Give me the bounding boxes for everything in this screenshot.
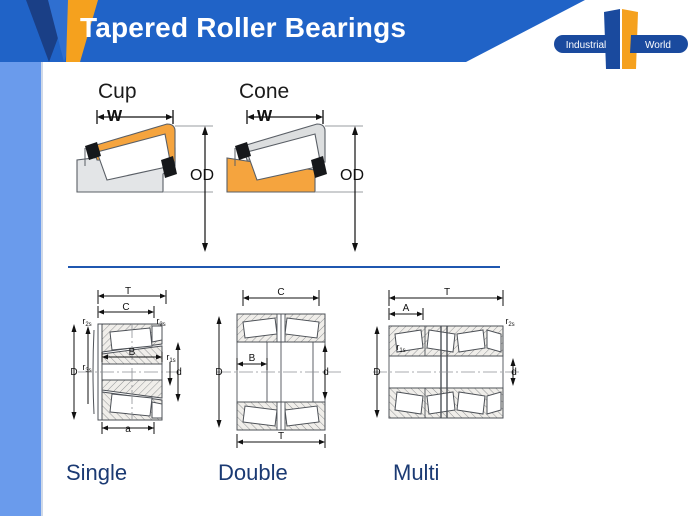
double-d-label: d <box>323 367 329 378</box>
single-figure: T C B D d a r2s r3s r2s r1s <box>58 284 208 460</box>
multi-figure-title: Multi <box>393 460 439 486</box>
single-r2s-label: r2s <box>82 316 91 328</box>
multi-A-label: A <box>403 303 410 314</box>
multi-figure: T A D d r2s r1s <box>363 284 533 460</box>
double-D-label: D <box>215 367 222 378</box>
double-figure-title: Double <box>218 460 288 486</box>
cone-od-label: OD <box>340 167 364 185</box>
single-r1s-dimension <box>168 362 173 386</box>
double-roller-top-right <box>285 318 319 338</box>
multi-roller-top-4 <box>487 330 501 352</box>
multi-D-label: D <box>373 367 380 378</box>
cup-figure-title: Cup <box>98 80 137 104</box>
double-C-label: C <box>277 287 284 298</box>
single-T-label: T <box>125 286 131 297</box>
multi-roller-bottom-3 <box>457 392 485 414</box>
cup-od-dimension <box>202 126 208 252</box>
logo-right-word: World <box>645 40 671 51</box>
multi-r2s-label: r2s <box>505 316 514 328</box>
double-T-label: T <box>278 431 284 442</box>
single-C-label: C <box>122 302 129 313</box>
double-roller-bottom-left <box>243 406 277 426</box>
single-r1s-label: r1s <box>166 352 175 364</box>
double-roller-top-left <box>243 318 277 338</box>
single-d-label: d <box>176 367 182 378</box>
single-figure-title: Single <box>66 460 127 486</box>
cone-figure-title: Cone <box>239 80 289 104</box>
single-a-label: a <box>125 424 131 435</box>
left-accent-bar <box>0 62 41 516</box>
page-title: Tapered Roller Bearings <box>80 12 406 44</box>
multi-d-label: d <box>511 367 517 378</box>
multi-roller-bottom-4 <box>487 392 501 414</box>
single-T-dimension <box>98 290 166 304</box>
slide-root: Tapered Roller Bearings Industrial World <box>0 0 700 516</box>
cone-od-dimension <box>352 126 358 252</box>
logo-left-word: Industrial <box>566 40 607 51</box>
double-roller-bottom-right <box>285 406 319 426</box>
slide-body: Cup Cone <box>43 62 700 516</box>
section-divider <box>68 266 500 268</box>
single-D-label: D <box>70 367 77 378</box>
double-B-label: B <box>249 353 256 364</box>
single-r3s-dimension <box>86 326 91 404</box>
double-figure: C B D d T <box>203 284 363 460</box>
cup-od-label: OD <box>190 167 214 185</box>
multi-roller-top-3 <box>457 330 485 352</box>
cone-w-label: W <box>257 108 272 126</box>
single-B-label: B <box>129 347 136 358</box>
cup-w-label: W <box>107 108 122 126</box>
multi-roller-bottom-1 <box>395 392 423 414</box>
cone-figure <box>213 104 393 264</box>
multi-T-label: T <box>444 287 450 298</box>
single-roller-lower <box>110 394 152 416</box>
